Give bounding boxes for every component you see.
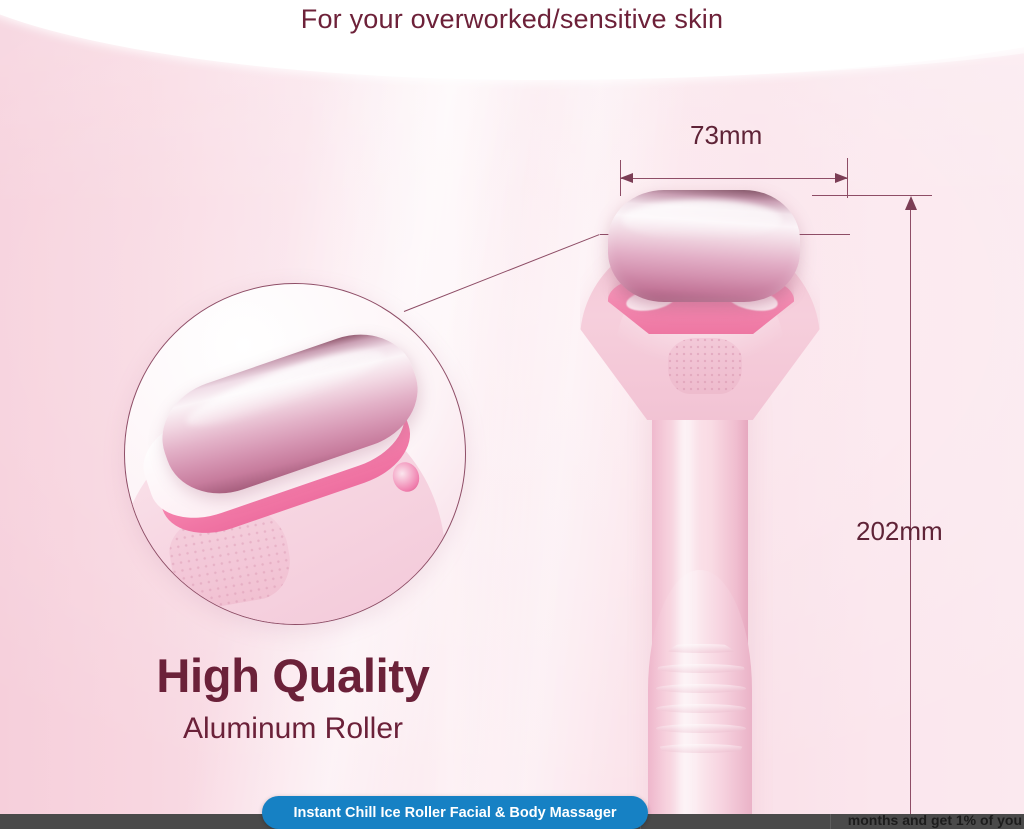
dimension-label-width: 73mm	[690, 120, 762, 151]
roller-closeup-inset	[124, 283, 466, 625]
caption-headline: High Quality	[0, 648, 586, 703]
textured-grip-pad	[668, 338, 742, 394]
page-headline: For your overworked/sensitive skin	[0, 0, 1024, 38]
product-title-pill[interactable]: Instant Chill Ice Roller Facial & Body M…	[262, 796, 648, 829]
roller-specular-highlight	[622, 200, 782, 240]
handle-finger-ridges	[656, 640, 746, 770]
partial-overlay-text: months and get 1% of you	[848, 812, 1022, 828]
product-illustration	[560, 170, 940, 829]
caption-subtext: Aluminum Roller	[0, 712, 586, 746]
product-detail-image: For your overworked/sensitive skin 73mm …	[0, 0, 1024, 829]
